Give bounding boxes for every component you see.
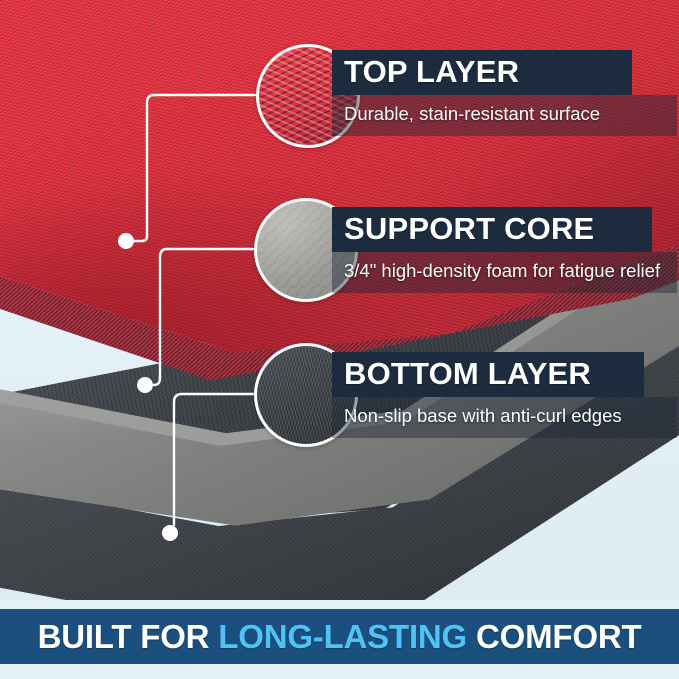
callout-bottom-layer: BOTTOM LAYER Non-slip base with anti-cur… xyxy=(332,352,677,438)
banner-text-part1: BUILT FOR xyxy=(38,618,219,655)
banner-text-part2: COMFORT xyxy=(467,618,641,655)
callout-description-top-layer: Durable, stain-resistant surface xyxy=(332,95,677,136)
infographic-root: TOP LAYER Durable, stain-resistant surfa… xyxy=(0,0,679,679)
bottom-banner: BUILT FOR LONG-LASTING COMFORT xyxy=(0,609,679,664)
callout-description-bottom-layer: Non-slip base with anti-curl edges xyxy=(332,397,677,438)
bottom-banner-text: BUILT FOR LONG-LASTING COMFORT xyxy=(38,618,642,656)
callout-title-bottom-layer: BOTTOM LAYER xyxy=(332,352,644,397)
callout-title-support-core: SUPPORT CORE xyxy=(332,207,652,252)
callout-title-top-layer: TOP LAYER xyxy=(332,50,632,95)
callout-description-support-core: 3/4" high-density foam for fatigue relie… xyxy=(332,252,677,293)
banner-text-highlight: LONG-LASTING xyxy=(218,618,467,655)
callout-support-core: SUPPORT CORE 3/4" high-density foam for … xyxy=(332,207,677,293)
bottom-banner-zone: BUILT FOR LONG-LASTING COMFORT xyxy=(0,600,679,679)
callout-top-layer: TOP LAYER Durable, stain-resistant surfa… xyxy=(332,50,677,136)
